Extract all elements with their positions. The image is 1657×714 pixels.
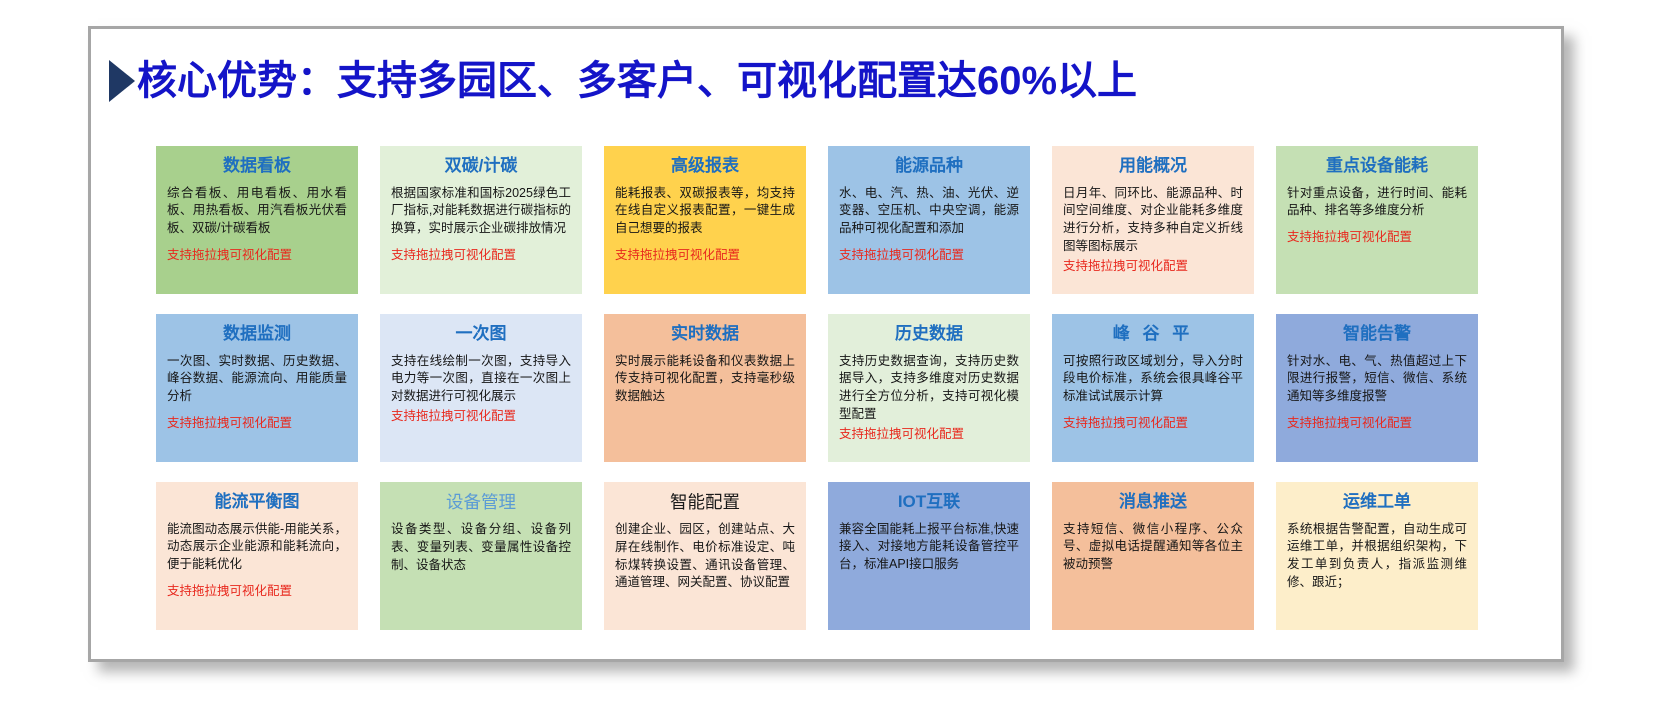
card-description: 针对水、电、气、热值超过上下限进行报警，短信、微信、系统通知等多维度报警 [1287, 353, 1467, 406]
card-description: 根据国家标准和国标2025绿色工厂指标,对能耗数据进行碳指标的换算，实时展示企业… [391, 185, 571, 238]
card-description: 支持在线绘制一次图，支持导入电力等一次图，直接在一次图上对数据进行可视化展示 [391, 353, 571, 406]
card-note: 支持拖拉拽可视化配置 [615, 247, 795, 265]
card-note: 支持拖拉拽可视化配置 [1063, 258, 1243, 276]
feature-card[interactable]: 智能告警 针对水、电、气、热值超过上下限进行报警，短信、微信、系统通知等多维度报… [1276, 314, 1478, 462]
card-title: 峰 谷 平 [1063, 324, 1243, 344]
card-note: 支持拖拉拽可视化配置 [1287, 229, 1467, 247]
feature-card[interactable]: 能源品种 水、电、汽、热、油、光伏、逆变器、空压机、中央空调，能源品种可视化配置… [828, 146, 1030, 294]
card-title: 消息推送 [1063, 492, 1243, 512]
card-note: 支持拖拉拽可视化配置 [167, 415, 347, 433]
feature-card[interactable]: 数据监测 一次图、实时数据、历史数据、峰谷数据、能源流向、用能质量分析 支持拖拉… [156, 314, 358, 462]
card-note: 支持拖拉拽可视化配置 [167, 247, 347, 265]
card-description: 系统根据告警配置，自动生成可运维工单，并根据组织架构，下发工单到负责人，指派监测… [1287, 521, 1467, 592]
card-title: 智能告警 [1287, 324, 1467, 344]
card-description: 水、电、汽、热、油、光伏、逆变器、空压机、中央空调，能源品种可视化配置和添加 [839, 185, 1019, 238]
feature-card[interactable]: 历史数据 支持历史数据查询，支持历史数据导入，支持多维度对历史数据进行全方位分析… [828, 314, 1030, 462]
card-note: 支持拖拉拽可视化配置 [391, 408, 571, 426]
card-description: 兼容全国能耗上报平台标准,快速接入、对接地方能耗设备管控平台，标准API接口服务 [839, 521, 1019, 574]
card-note: 支持拖拉拽可视化配置 [391, 247, 571, 265]
page-title: 核心优势：支持多园区、多客户、可视化配置达60%以上 [109, 51, 1137, 111]
card-title: 双碳/计碳 [391, 156, 571, 176]
card-row: 数据监测 一次图、实时数据、历史数据、峰谷数据、能源流向、用能质量分析 支持拖拉… [156, 314, 1504, 462]
feature-card[interactable]: 高级报表 能耗报表、双碳报表等，均支持在线自定义报表配置，一键生成自己想要的报表… [604, 146, 806, 294]
triangle-bullet-icon [109, 60, 135, 102]
card-description: 创建企业、园区，创建站点、大屏在线制作、电价标准设定、吨标煤转换设置、通讯设备管… [615, 521, 795, 592]
feature-card[interactable]: 峰 谷 平 可按照行政区域划分，导入分时段电价标准，系统会很具峰谷平标准试试展示… [1052, 314, 1254, 462]
card-title: 智能配置 [615, 492, 795, 512]
card-title: 能源品种 [839, 156, 1019, 176]
card-description: 综合看板、用电看板、用水看板、用热看板、用汽看板光伏看板、双碳/计碳看板 [167, 185, 347, 238]
card-description: 可按照行政区域划分，导入分时段电价标准，系统会很具峰谷平标准试试展示计算 [1063, 353, 1243, 406]
card-title: IOT互联 [839, 492, 1019, 512]
feature-card[interactable]: 实时数据 实时展示能耗设备和仪表数据上传支持可视化配置，支持毫秒级数据触达 [604, 314, 806, 462]
card-description: 支持短信、微信小程序、公众号、虚拟电话提醒通知等各位主被动预警 [1063, 521, 1243, 574]
slide-frame: 核心优势：支持多园区、多客户、可视化配置达60%以上 数据看板 综合看板、用电看… [88, 26, 1564, 662]
card-row: 能流平衡图 能流图动态展示供能-用能关系，动态展示企业能源和能耗流向，便于能耗优… [156, 482, 1504, 630]
card-note: 支持拖拉拽可视化配置 [167, 583, 347, 601]
feature-card[interactable]: 设备管理 设备类型、设备分组、设备列表、变量列表、变量属性设备控制、设备状态 [380, 482, 582, 630]
feature-card[interactable]: IOT互联 兼容全国能耗上报平台标准,快速接入、对接地方能耗设备管控平台，标准A… [828, 482, 1030, 630]
feature-card[interactable]: 消息推送 支持短信、微信小程序、公众号、虚拟电话提醒通知等各位主被动预警 [1052, 482, 1254, 630]
card-description: 针对重点设备，进行时间、能耗品种、排名等多维度分析 [1287, 185, 1467, 221]
card-note: 支持拖拉拽可视化配置 [839, 426, 1019, 444]
card-description: 设备类型、设备分组、设备列表、变量列表、变量属性设备控制、设备状态 [391, 521, 571, 574]
card-title: 运维工单 [1287, 492, 1467, 512]
card-title: 设备管理 [391, 492, 571, 512]
feature-card[interactable]: 双碳/计碳 根据国家标准和国标2025绿色工厂指标,对能耗数据进行碳指标的换算，… [380, 146, 582, 294]
feature-card[interactable]: 用能概况 日月年、同环比、能源品种、时间空间维度、对企业能耗多维度进行分析，支持… [1052, 146, 1254, 294]
card-note: 支持拖拉拽可视化配置 [839, 247, 1019, 265]
page-title-text: 核心优势：支持多园区、多客户、可视化配置达60%以上 [137, 61, 1137, 101]
card-title: 用能概况 [1063, 156, 1243, 176]
card-title: 高级报表 [615, 156, 795, 176]
card-title: 数据看板 [167, 156, 347, 176]
card-description: 能流图动态展示供能-用能关系，动态展示企业能源和能耗流向，便于能耗优化 [167, 521, 347, 574]
card-title: 重点设备能耗 [1287, 156, 1467, 176]
card-description: 能耗报表、双碳报表等，均支持在线自定义报表配置，一键生成自己想要的报表 [615, 185, 795, 238]
card-description: 支持历史数据查询，支持历史数据导入，支持多维度对历史数据进行全方位分析，支持可视… [839, 353, 1019, 424]
feature-card-grid: 数据看板 综合看板、用电看板、用水看板、用热看板、用汽看板光伏看板、双碳/计碳看… [156, 146, 1504, 650]
feature-card[interactable]: 智能配置 创建企业、园区，创建站点、大屏在线制作、电价标准设定、吨标煤转换设置、… [604, 482, 806, 630]
card-note: 支持拖拉拽可视化配置 [1063, 415, 1243, 433]
card-description: 一次图、实时数据、历史数据、峰谷数据、能源流向、用能质量分析 [167, 353, 347, 406]
card-title: 历史数据 [839, 324, 1019, 344]
card-title: 数据监测 [167, 324, 347, 344]
card-title: 一次图 [391, 324, 571, 344]
card-note: 支持拖拉拽可视化配置 [1287, 415, 1467, 433]
card-title: 实时数据 [615, 324, 795, 344]
feature-card[interactable]: 能流平衡图 能流图动态展示供能-用能关系，动态展示企业能源和能耗流向，便于能耗优… [156, 482, 358, 630]
feature-card[interactable]: 一次图 支持在线绘制一次图，支持导入电力等一次图，直接在一次图上对数据进行可视化… [380, 314, 582, 462]
card-description: 实时展示能耗设备和仪表数据上传支持可视化配置，支持毫秒级数据触达 [615, 353, 795, 406]
feature-card[interactable]: 运维工单 系统根据告警配置，自动生成可运维工单，并根据组织架构，下发工单到负责人… [1276, 482, 1478, 630]
feature-card[interactable]: 重点设备能耗 针对重点设备，进行时间、能耗品种、排名等多维度分析 支持拖拉拽可视… [1276, 146, 1478, 294]
card-title: 能流平衡图 [167, 492, 347, 512]
card-row: 数据看板 综合看板、用电看板、用水看板、用热看板、用汽看板光伏看板、双碳/计碳看… [156, 146, 1504, 294]
feature-card[interactable]: 数据看板 综合看板、用电看板、用水看板、用热看板、用汽看板光伏看板、双碳/计碳看… [156, 146, 358, 294]
card-description: 日月年、同环比、能源品种、时间空间维度、对企业能耗多维度进行分析，支持多种自定义… [1063, 185, 1243, 256]
